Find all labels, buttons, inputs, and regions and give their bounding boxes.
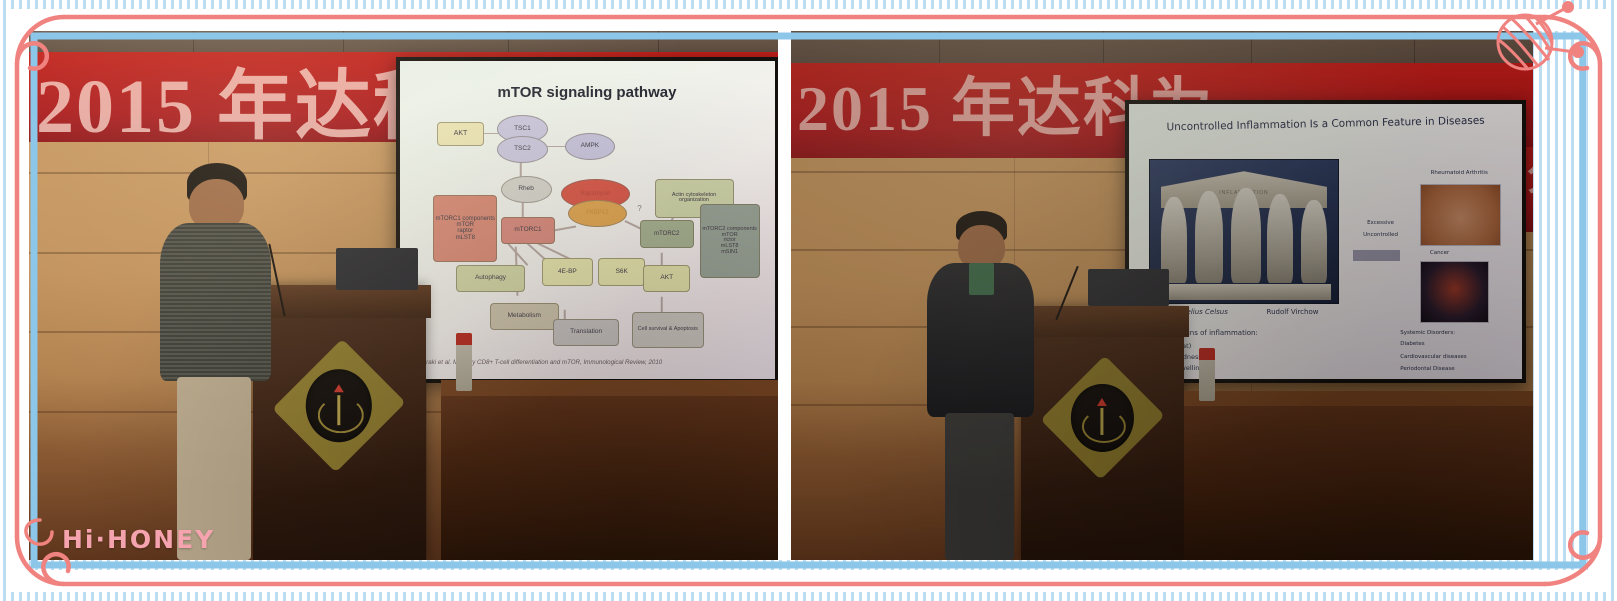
speaker-torso-left [160, 223, 270, 382]
laptop-left [336, 248, 419, 290]
projection-screen-frame-right: Uncontrolled Inflammation Is a Common Fe… [1125, 100, 1526, 383]
university-emblem-left [273, 339, 406, 472]
node-tsc2: TSC2 [497, 136, 548, 163]
systemic-item-periodontal: Periodontal Disease [1400, 364, 1518, 376]
disease-label-rheumatoid: Rheumatoid Arthritis [1404, 167, 1514, 181]
progression-arrow-icon [1353, 250, 1400, 261]
node-rheb: Rheb [501, 176, 552, 203]
slide-title-inflammation: Uncontrolled Inflammation Is a Common Fe… [1129, 113, 1522, 133]
emblem-disc-right [1071, 384, 1134, 452]
node-translation: Translation [553, 319, 619, 346]
projection-screen-frame-left: mTOR signaling pathway [396, 57, 779, 382]
node-mtorc2-components: mTORC2 components mTOR rictor mLST8 mSIN… [700, 204, 760, 278]
node-mtorc2: mTORC2 [640, 220, 695, 247]
arrow-label-uncontrolled: Uncontrolled [1349, 229, 1412, 243]
emblem-star-icon [334, 384, 344, 392]
unknown-marker: ? [632, 201, 647, 217]
node-4ebp: 4E-BP [542, 258, 593, 285]
statue-5 [1301, 200, 1327, 283]
water-bottle-left [456, 333, 473, 391]
emblem-wreath-icon [318, 397, 364, 433]
university-emblem-right [1040, 355, 1165, 480]
rheumatoid-hand-image [1420, 184, 1501, 247]
bottle-cap-right [1199, 348, 1215, 360]
node-autophagy: Autophagy [456, 265, 526, 292]
emblem-disc-left [306, 369, 372, 442]
node-s6k: S6K [598, 258, 645, 285]
node-akt: AKT [437, 122, 484, 146]
node-mtorc1: mTORC1 [501, 217, 556, 244]
systemic-item-diabetes: Diabetes [1400, 339, 1518, 351]
left-photo[interactable]: 2015 年达科为 mTOR signaling pathway [28, 31, 778, 560]
slide-mtor: mTOR signaling pathway [400, 61, 775, 378]
bottle-cap-left [456, 333, 473, 346]
podium-left [253, 285, 426, 560]
speaker-right [925, 211, 1036, 560]
relief-plinth [1157, 284, 1331, 300]
photo-collage: 2015 年达科为 mTOR signaling pathway [28, 31, 1533, 560]
statue-3 [1231, 188, 1261, 282]
front-desk-right [1184, 391, 1533, 560]
speaker-collar-right [969, 263, 993, 294]
lecture-hall-scene-left: 2015 年达科为 mTOR signaling pathway [28, 31, 778, 560]
laptop-right [1088, 269, 1170, 306]
emblem-wreath-icon-right [1083, 410, 1127, 444]
node-mtorc1-components: mTORC1 components mTOR raptor mLST8 [433, 195, 497, 262]
caption-virchow: Rudolf Virchow [1267, 305, 1354, 322]
speaker-legs-right [945, 413, 1014, 560]
statue-2 [1195, 191, 1223, 283]
speaker-left [156, 163, 276, 560]
statue-4 [1267, 194, 1293, 283]
podium-top-right [1016, 306, 1189, 336]
node-fkbp12: FKBP12 [568, 200, 626, 227]
systemic-item-cardiovascular: Cardiovascular diseases [1400, 351, 1518, 363]
node-ampk: AMPK [565, 133, 616, 160]
desk-top-left [441, 380, 779, 396]
watermark-hi-honey: Hi·HONEY [62, 525, 215, 554]
collage-stage: 2015 年达科为 mTOR signaling pathway [0, 0, 1617, 601]
node-akt-downstream: AKT [643, 265, 690, 292]
water-bottle-right [1199, 348, 1215, 401]
celsus-relief-image: INFLAMMATION [1149, 159, 1340, 304]
node-cell-survival-apoptosis: Cell survival & Apoptosis [632, 312, 704, 348]
cancer-lung-image [1420, 261, 1489, 324]
desk-top-right [1184, 391, 1533, 406]
lecture-hall-scene-right: 2015 年达科为 班一重庆分站 Uncontrolled Inflammati… [791, 31, 1533, 560]
slide-inflammation: Uncontrolled Inflammation Is a Common Fe… [1129, 104, 1522, 379]
slide-title-mtor: mTOR signaling pathway [400, 84, 775, 101]
disease-label-cancer: Cancer [1404, 247, 1475, 261]
node-metabolism: Metabolism [490, 303, 560, 330]
front-desk-left [441, 380, 779, 560]
podium-right [1021, 306, 1184, 560]
emblem-star-icon-right [1098, 398, 1108, 406]
right-photo[interactable]: 2015 年达科为 班一重庆分站 Uncontrolled Inflammati… [791, 31, 1533, 560]
